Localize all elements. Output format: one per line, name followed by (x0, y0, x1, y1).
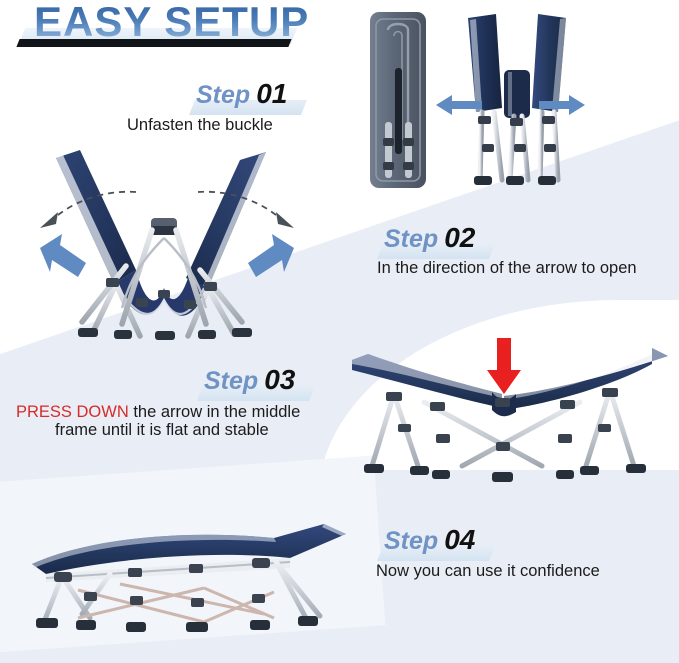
step-01-description: Unfasten the buckle (127, 116, 273, 135)
step-02-arrow-left-blue (434, 92, 484, 118)
step-04-word: Step (384, 527, 438, 555)
step-01-label: Step01 (196, 78, 287, 110)
page-title: EASY SETUP (34, 0, 309, 46)
step-04-number: 04 (444, 524, 475, 555)
step-03-number: 03 (264, 364, 295, 395)
step-04-label: Step04 (384, 524, 475, 556)
step-04-cot-illustration (24, 518, 354, 646)
step-03-label: Step03 (204, 364, 295, 396)
step-01-word: Step (196, 81, 250, 109)
step-02-description: In the direction of the arrow to open (377, 259, 637, 278)
page-title-banner: EASY SETUP (12, 2, 304, 52)
step-01-arrow-dashed-curve-left (34, 186, 144, 236)
step-02-carry-bag-illustration (368, 10, 428, 190)
step-02-word: Step (384, 225, 438, 253)
step-02-number: 02 (444, 222, 475, 253)
step-01-arrow-up-right-blue (240, 232, 300, 287)
step-03-description-rest: the arrow in the middle (129, 403, 301, 421)
step-02-arrow-right-blue (537, 92, 587, 118)
step-03-arrow-down-red (485, 338, 523, 396)
step-03-description-line-1: PRESS DOWN the arrow in the middle (16, 403, 300, 422)
step-03-word: Step (204, 367, 258, 395)
step-03-description-highlight: PRESS DOWN (16, 403, 129, 421)
step-01-arrow-dashed-curve-right (190, 186, 300, 236)
step-01-arrow-up-left-blue (34, 232, 94, 287)
step-02-label: Step02 (384, 222, 475, 254)
easy-setup-infographic: EASY SETUP Step01 Unfasten the buckle (0, 0, 679, 663)
step-01-number: 01 (256, 78, 287, 109)
step-03-description-line-2: frame until it is flat and stable (55, 421, 269, 440)
step-04-description: Now you can use it confidence (376, 562, 600, 581)
